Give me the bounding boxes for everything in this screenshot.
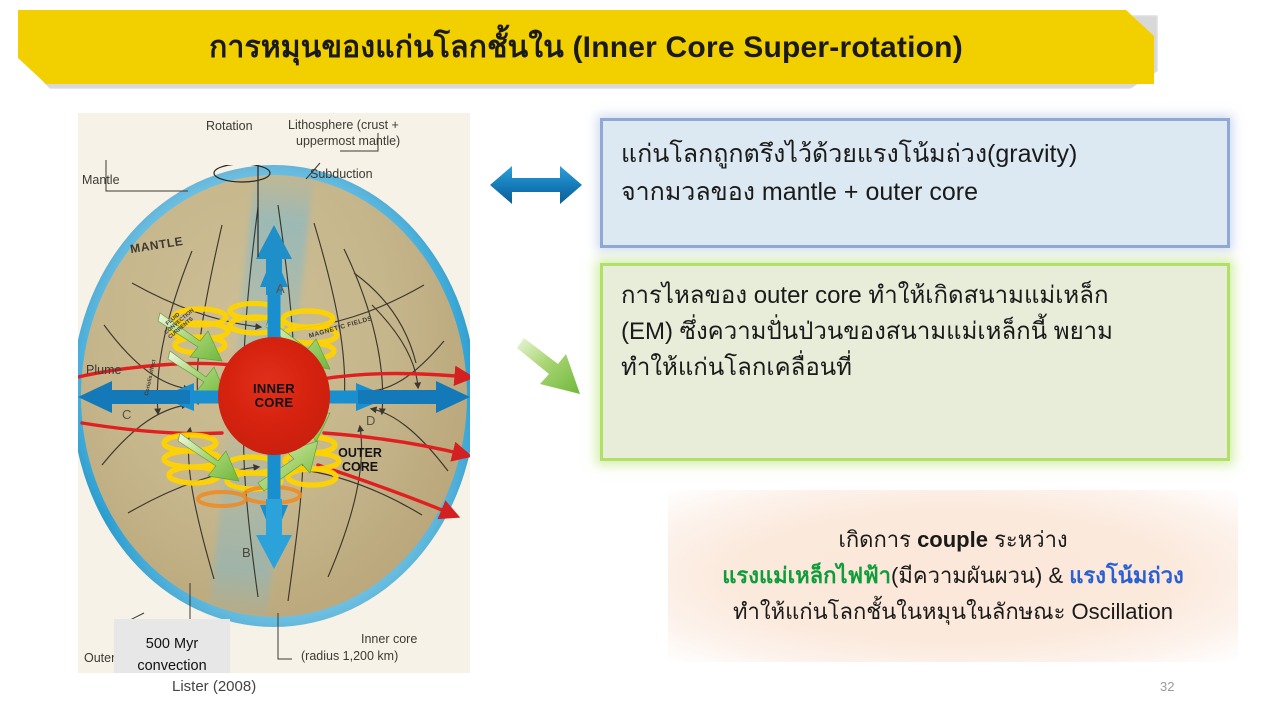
green-diagonal-arrow-icon [512, 330, 592, 402]
coupling-line1: เกิดการ couple ระหว่าง [838, 525, 1067, 555]
coupling-emf-term: แรงแม่เหล็กไฟฟ้า [722, 563, 891, 588]
label-mantle-callout: Mantle [82, 173, 120, 189]
coupling-line1-part3: ระหว่าง [988, 527, 1068, 552]
convection-note-line1: 500 Myr [146, 634, 198, 656]
label-lithosphere-line1: Lithosphere (crust + [288, 118, 399, 134]
magnetic-text-line1: การไหลของ outer core ทำให้เกิดสนามแม่เหล… [621, 278, 1213, 314]
slide-root: การหมุนของแก่นโลกชั้นใน (Inner Core Supe… [0, 0, 1280, 720]
outer-core-label-line1: OUTER [318, 447, 402, 461]
inner-core-label-line2: CORE [255, 396, 294, 410]
title-banner: การหมุนของแก่นโลกชั้นใน (Inner Core Supe… [18, 10, 1154, 84]
earth-cross-section-figure: INNER CORE OUTER CORE Rotation Lithosphe… [78, 113, 470, 673]
inner-core-region: INNER CORE [218, 337, 330, 455]
gravity-text-line1: แก่นโลกถูกตรึงไว้ด้วยแรงโน้มถ่วง(gravity… [621, 135, 1211, 173]
label-subduction: Subduction [310, 167, 373, 183]
label-inner-core-radius: (radius 1,200 km) [301, 649, 398, 665]
convection-cycle-note: 500 Myr convection cycle [114, 619, 230, 673]
label-inner-core-callout: Inner core [361, 632, 417, 648]
blue-double-arrow-icon [486, 152, 586, 218]
coupling-gravity-term: แรงโน้มถ่วง [1069, 563, 1184, 588]
convection-note-line2: convection [137, 656, 206, 673]
coupling-line3: ทำให้แก่นโลกชั้นในหมุนในลักษณะ Oscillati… [733, 597, 1173, 627]
label-lithosphere-line2: uppermost mantle) [296, 134, 400, 150]
callout-box-coupling: เกิดการ couple ระหว่าง แรงแม่เหล็กไฟฟ้า(… [668, 490, 1238, 662]
label-marker-a: A [276, 281, 285, 297]
inner-core-label-line1: INNER [253, 382, 295, 396]
page-title: การหมุนของแก่นโลกชั้นใน (Inner Core Supe… [209, 24, 963, 71]
label-rotation: Rotation [206, 119, 253, 135]
magnetic-text-line2: (EM) ซึ่งความปั่นป่วนของสนามแม่เหล็กนี้ … [621, 314, 1213, 350]
globe-graphic: INNER CORE OUTER CORE [78, 165, 470, 627]
label-plume: Plume [86, 363, 121, 379]
magnetic-text-line3: ทำให้แก่นโลกเคลื่อนที่ [621, 350, 1213, 386]
coupling-line2-middle: (มีความผันผวน) & [891, 563, 1069, 588]
label-marker-c: C [122, 407, 131, 423]
coupling-line1-part1: เกิดการ [838, 527, 917, 552]
gravity-text-line2: จากมวลของ mantle + outer core [621, 173, 1211, 211]
coupling-line1-keyword: couple [917, 527, 988, 552]
outer-core-region-label: OUTER CORE [318, 447, 402, 474]
callout-box-gravity: แก่นโลกถูกตรึงไว้ด้วยแรงโน้มถ่วง(gravity… [600, 118, 1230, 248]
label-marker-b: B [242, 545, 251, 561]
page-number: 32 [1160, 679, 1174, 694]
label-marker-d: D [366, 413, 375, 429]
figure-credit: Lister (2008) [172, 678, 256, 695]
coupling-line2: แรงแม่เหล็กไฟฟ้า(มีความผันผวน) & แรงโน้ม… [722, 561, 1184, 591]
outer-core-label-line2: CORE [318, 461, 402, 475]
callout-box-magnetic: การไหลของ outer core ทำให้เกิดสนามแม่เหล… [600, 263, 1230, 461]
